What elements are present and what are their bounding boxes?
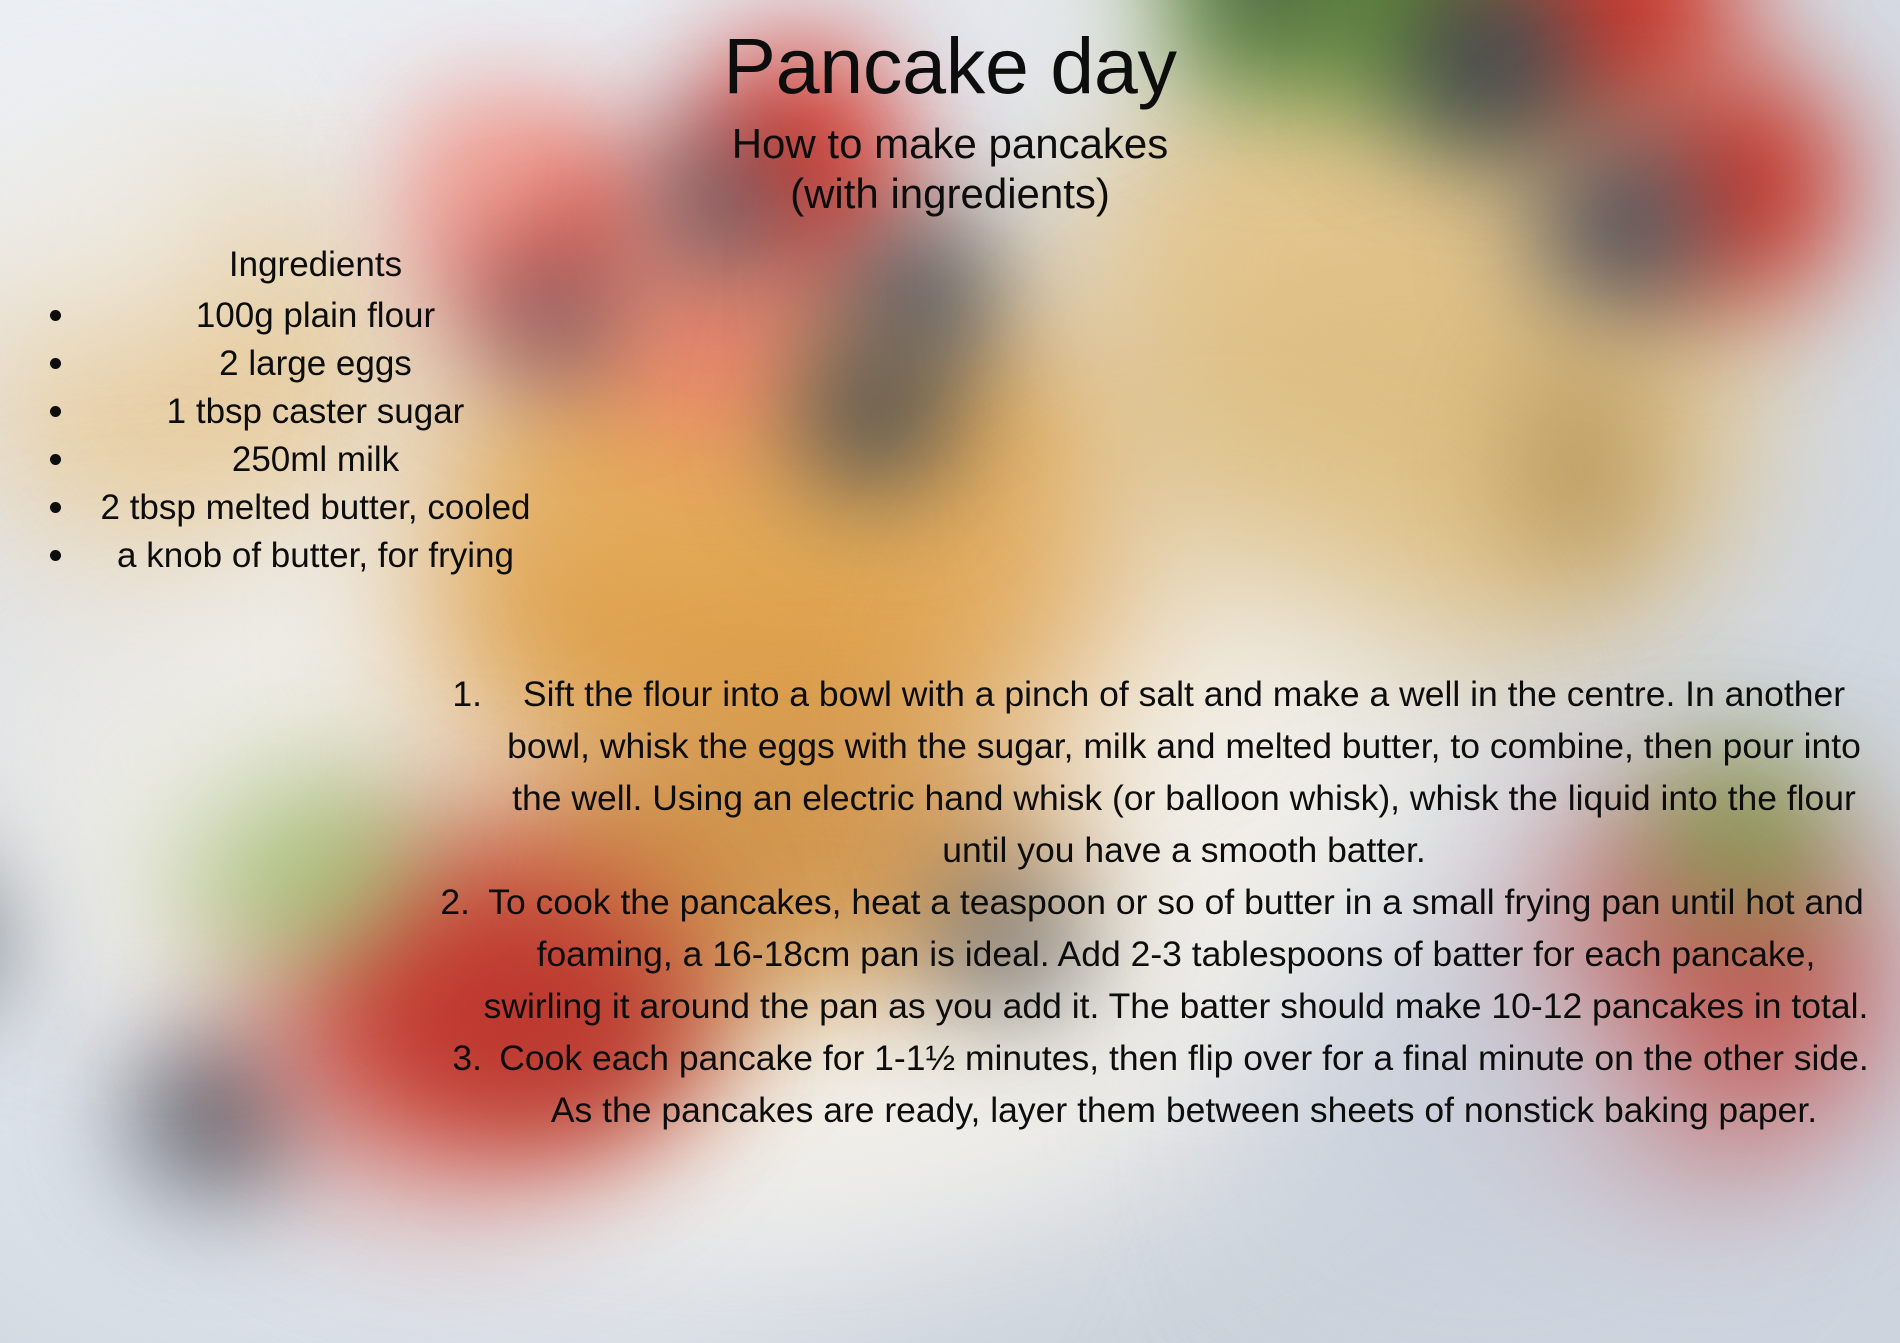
list-item: 2 tbsp melted butter, cooled (18, 484, 563, 532)
page-title: Pancake day (0, 26, 1900, 105)
ingredient-label: 2 large eggs (219, 344, 412, 383)
list-item: 100g plain flour (18, 292, 563, 340)
list-item: 1. Sift the flour into a bowl with a pin… (440, 668, 1870, 876)
bullet-icon (50, 406, 61, 417)
bullet-icon (50, 358, 61, 369)
page-subtitle: How to make pancakes (with ingredients) (0, 119, 1900, 218)
ingredient-label: 100g plain flour (196, 296, 435, 335)
ingredient-label: 1 tbsp caster sugar (167, 392, 465, 431)
list-item: 1 tbsp caster sugar (18, 388, 563, 436)
ingredients-list: 100g plain flour 2 large eggs 1 tbsp cas… (18, 292, 563, 580)
ingredient-label: 2 tbsp melted butter, cooled (101, 488, 531, 527)
method-block: 1. Sift the flour into a bowl with a pin… (440, 668, 1870, 1136)
list-item: 3. Cook each pancake for 1-1½ minutes, t… (440, 1032, 1870, 1136)
list-item: a knob of butter, for frying (18, 532, 563, 580)
bullet-icon (50, 454, 61, 465)
step-text: To cook the pancakes, heat a teaspoon or… (484, 882, 1869, 1026)
list-item: 250ml milk (18, 436, 563, 484)
method-list: 1. Sift the flour into a bowl with a pin… (440, 668, 1870, 1136)
step-number: 1. (440, 668, 482, 720)
step-number: 2. (440, 876, 470, 928)
step-text: Sift the flour into a bowl with a pinch … (507, 674, 1861, 870)
list-item: 2. To cook the pancakes, heat a teaspoon… (440, 876, 1870, 1032)
list-item: 2 large eggs (18, 340, 563, 388)
recipe-slide: Pancake day How to make pancakes (with i… (0, 0, 1900, 1343)
ingredient-label: a knob of butter, for frying (117, 536, 514, 575)
ingredients-block: Ingredients 100g plain flour 2 large egg… (18, 245, 563, 580)
ingredients-heading: Ingredients (18, 245, 563, 285)
step-text: Cook each pancake for 1-1½ minutes, then… (499, 1038, 1869, 1130)
title-block: Pancake day How to make pancakes (with i… (0, 26, 1900, 218)
step-number: 3. (440, 1032, 482, 1084)
ingredient-label: 250ml milk (232, 440, 399, 479)
bullet-icon (50, 502, 61, 513)
bullet-icon (50, 310, 61, 321)
bullet-icon (50, 550, 61, 561)
